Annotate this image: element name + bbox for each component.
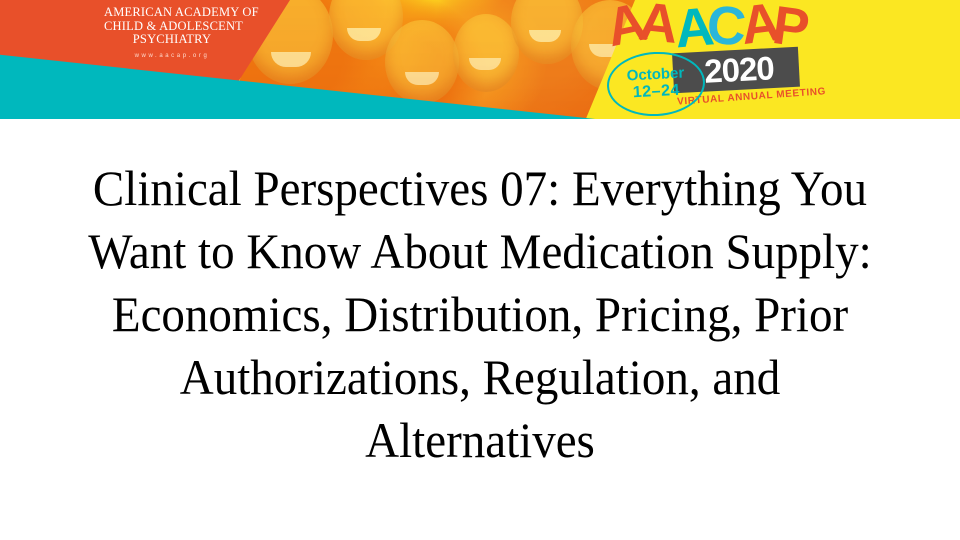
presentation-slide: American Academy of Child & Adolescent P… — [0, 0, 960, 540]
aacap-2020-meeting-logo: A A A C A P 2020 VIRTUAL ANNUAL MEETING … — [605, 0, 820, 119]
aacap-academy-logo: American Academy of Child & Adolescent P… — [104, 6, 240, 59]
meeting-date-days: 12–24 — [633, 82, 681, 103]
slide-title-area: Clinical Perspectives 07: Everything You… — [0, 119, 960, 540]
academy-logo-url: www.aacap.org — [104, 53, 240, 59]
meeting-date-badge: October 12–24 — [605, 49, 706, 118]
aacap-banner: American Academy of Child & Adolescent P… — [0, 0, 960, 119]
academy-logo-line-3: Psychiatry — [104, 33, 240, 47]
academy-logo-line-1: American Academy of — [104, 6, 240, 20]
academy-logo-line-2: Child & Adolescent — [104, 20, 240, 34]
page-title: Clinical Perspectives 07: Everything You… — [61, 157, 899, 472]
